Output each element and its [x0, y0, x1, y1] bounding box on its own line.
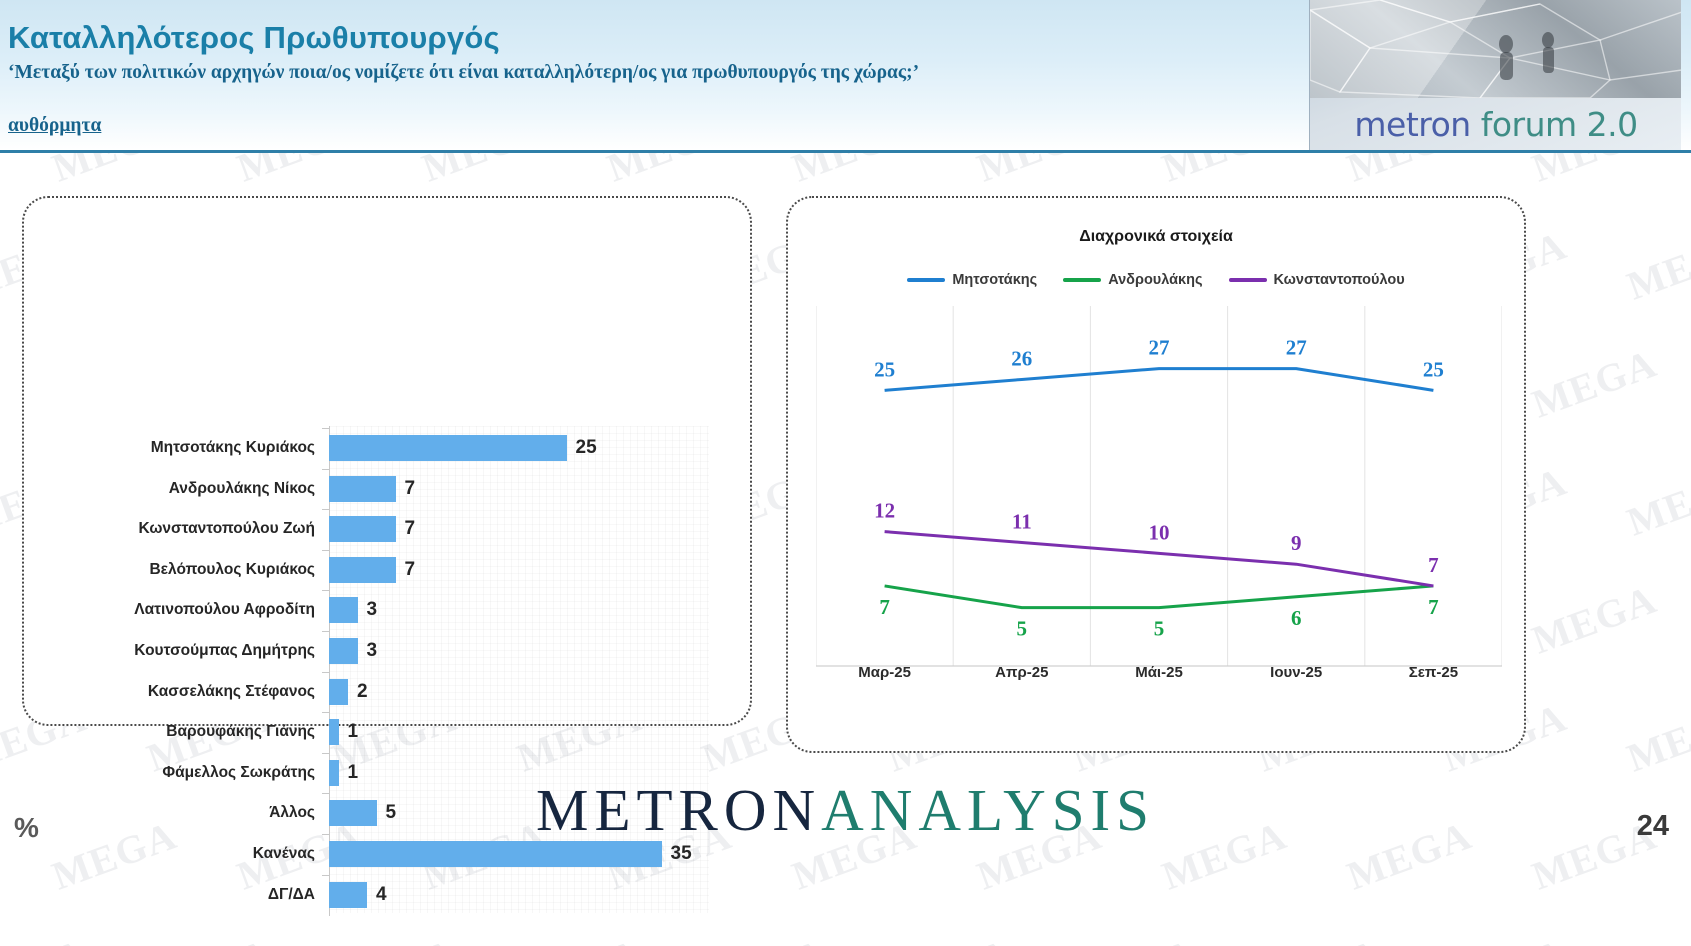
bar-row: Κωνσταντοπούλου Ζωή7 — [84, 509, 724, 549]
bar-category-label: Βαρουφάκης Γιάνης — [84, 723, 329, 741]
bar-track: 7 — [329, 469, 724, 509]
legend-item[interactable]: Μητσοτάκης — [907, 272, 1037, 288]
bar-axis-tick — [322, 753, 330, 754]
bar-axis-tick — [322, 550, 330, 551]
bar-category-label: ΔΓ/ΔΑ — [84, 886, 329, 904]
slide-header: Καταλληλότερος Πρωθυπουργός ‘Μεταξύ των … — [0, 0, 1691, 153]
bar-fill — [329, 476, 396, 502]
data-point-label: 27 — [1286, 336, 1307, 360]
bar-category-label: Βελόπουλος Κυριάκος — [84, 561, 329, 579]
watermark-text: MEGA — [1621, 929, 1691, 946]
bar-value-label: 4 — [376, 884, 387, 906]
data-point-label: 12 — [874, 499, 895, 523]
watermark-text: MEGA — [1621, 693, 1691, 781]
legend-item[interactable]: Κωνσταντοπούλου — [1229, 272, 1405, 288]
data-point-label: 7 — [879, 595, 890, 619]
data-point-label: 25 — [1423, 357, 1444, 381]
bar-category-label: Μητσοτάκης Κυριάκος — [84, 439, 329, 457]
bar-category-label: Ανδρουλάκης Νίκος — [84, 480, 329, 498]
bar-row: Λατινοπούλου Αφροδίτη3 — [84, 590, 724, 630]
bar-value-label: 3 — [367, 640, 378, 662]
logo-photo — [1310, 0, 1681, 98]
bar-fill — [329, 638, 358, 664]
data-point-label: 26 — [1011, 346, 1032, 370]
x-axis-tick-label: Απρ-25 — [953, 664, 1090, 681]
bar-fill — [329, 597, 358, 623]
bar-fill — [329, 882, 367, 908]
bar-row: Κασσελάκης Στέφανος2 — [84, 672, 724, 712]
bar-fill — [329, 557, 396, 583]
legend-color-swatch — [1229, 278, 1267, 282]
bar-axis-tick — [322, 469, 330, 470]
bar-value-label: 35 — [671, 843, 692, 865]
watermark-text: MEGA — [0, 929, 93, 946]
x-axis-tick-label: Ιουν-25 — [1228, 664, 1365, 681]
bar-track: 1 — [329, 712, 724, 752]
bar-value-label: 3 — [367, 599, 378, 621]
bar-track: 2 — [329, 672, 724, 712]
watermark-text: MEGA — [1066, 929, 1203, 946]
bar-value-label: 25 — [576, 437, 597, 459]
bar-axis-tick — [322, 875, 330, 876]
data-point-label: 9 — [1291, 531, 1302, 555]
legend-label: Κωνσταντοπούλου — [1274, 272, 1405, 288]
watermark-text: MEGA — [141, 929, 278, 946]
logo-geometry-icon — [1310, 0, 1681, 98]
watermark-text: MEGA — [696, 929, 833, 946]
bar-track: 3 — [329, 631, 724, 671]
bar-axis-tick — [322, 712, 330, 713]
metron-analysis-logo: METRONANALYSIS — [0, 776, 1691, 845]
x-axis-tick-label: Σεπ-25 — [1365, 664, 1502, 681]
data-point-label: 6 — [1291, 606, 1302, 630]
bar-row: ΔΓ/ΔΑ4 — [84, 875, 724, 915]
bar-track: 3 — [329, 590, 724, 630]
logo-wordmark: metron forum 2.0 — [1310, 105, 1681, 144]
watermark-text: MEGA — [326, 929, 463, 946]
line-chart-panel: Διαχρονικά στοιχεία ΜητσοτάκηςΑνδρουλάκη… — [786, 196, 1526, 753]
data-point-label: 10 — [1149, 520, 1170, 544]
bar-axis-tick — [322, 428, 330, 429]
line-series — [885, 586, 1434, 608]
logo-analysis-text: ANALYSIS — [821, 777, 1155, 843]
bar-fill — [329, 516, 396, 542]
bar-axis-tick — [322, 672, 330, 673]
logo-text-forum: forum 2.0 — [1481, 105, 1638, 144]
line-chart-x-axis: Μαρ-25Απρ-25Μάι-25Ιουν-25Σεπ-25 — [816, 664, 1502, 681]
watermark-text: MEGA — [1526, 575, 1663, 663]
bar-fill — [329, 679, 348, 705]
line-chart-title: Διαχρονικά στοιχεία — [788, 228, 1524, 246]
x-axis-tick-label: Μαρ-25 — [816, 664, 953, 681]
data-point-label: 27 — [1149, 336, 1170, 360]
x-axis-tick-label: Μάι-25 — [1090, 664, 1227, 681]
legend-label: Ανδρουλάκης — [1108, 272, 1202, 288]
bar-track: 4 — [329, 875, 724, 915]
bar-category-label: Λατινοπούλου Αφροδίτη — [84, 601, 329, 619]
bar-chart: Μητσοτάκης Κυριάκος25Ανδρουλάκης Νίκος7Κ… — [24, 198, 750, 724]
bar-fill — [329, 719, 339, 745]
brand-logo: metron forum 2.0 — [1309, 0, 1681, 150]
data-point-label: 11 — [1012, 509, 1032, 533]
line-chart-svg: 25262727257556712111097 — [816, 306, 1502, 706]
bar-axis-tick — [322, 590, 330, 591]
bar-category-label: Κουτσούμπας Δημήτρης — [84, 642, 329, 660]
logo-metron-text: METRON — [536, 777, 821, 843]
line-chart-legend: ΜητσοτάκηςΑνδρουλάκηςΚωνσταντοπούλου — [788, 272, 1524, 288]
data-point-label: 7 — [1428, 595, 1439, 619]
legend-item[interactable]: Ανδρουλάκης — [1063, 272, 1202, 288]
watermark-text: MEGA — [511, 929, 648, 946]
line-series — [885, 369, 1434, 391]
watermark-text: MEGA — [1526, 339, 1663, 427]
data-point-label: 5 — [1017, 617, 1028, 641]
legend-color-swatch — [1063, 278, 1101, 282]
watermark-text: MEGA — [1251, 929, 1388, 946]
bar-axis-tick — [322, 631, 330, 632]
percent-label: % — [14, 812, 39, 844]
data-point-label: 5 — [1154, 617, 1165, 641]
watermark-text: MEGA — [1621, 457, 1691, 545]
bar-category-label: Κασσελάκης Στέφανος — [84, 683, 329, 701]
bar-chart-panel: Μητσοτάκης Κυριάκος25Ανδρουλάκης Νίκος7Κ… — [22, 196, 752, 726]
bar-fill — [329, 435, 567, 461]
bar-row: Βελόπουλος Κυριάκος7 — [84, 550, 724, 590]
question-note: αυθόρμητα — [8, 115, 101, 137]
bar-row: Κουτσούμπας Δημήτρης3 — [84, 631, 724, 671]
bar-axis-tick — [322, 509, 330, 510]
bar-row: Βαρουφάκης Γιάνης1 — [84, 712, 724, 752]
bar-value-label: 7 — [405, 478, 416, 500]
data-point-label: 7 — [1428, 553, 1439, 577]
page-number: 24 — [1637, 810, 1669, 843]
bar-value-label: 1 — [348, 721, 359, 743]
page-title: Καταλληλότερος Πρωθυπουργός — [8, 20, 500, 56]
bar-row: Μητσοτάκης Κυριάκος25 — [84, 428, 724, 468]
bar-track: 7 — [329, 550, 724, 590]
legend-color-swatch — [907, 278, 945, 282]
bar-value-label: 2 — [357, 681, 368, 703]
bar-value-label: 7 — [405, 559, 416, 581]
watermark-text: MEGA — [1436, 929, 1573, 946]
bar-category-label: Κωνσταντοπούλου Ζωή — [84, 520, 329, 538]
watermark-text: MEGA — [1621, 221, 1691, 309]
survey-question: ‘Μεταξύ των πολιτικών αρχηγών ποια/ος νο… — [8, 59, 1168, 87]
logo-text-metron: metron — [1354, 105, 1480, 144]
bar-category-label: Κανένας — [84, 845, 329, 863]
bar-value-label: 7 — [405, 518, 416, 540]
watermark-text: MEGA — [881, 929, 1018, 946]
line-chart-plot: 25262727257556712111097 — [816, 306, 1502, 706]
bar-track: 7 — [329, 509, 724, 549]
bar-row: Ανδρουλάκης Νίκος7 — [84, 469, 724, 509]
bar-track: 25 — [329, 428, 724, 468]
data-point-label: 25 — [874, 357, 895, 381]
legend-label: Μητσοτάκης — [952, 272, 1037, 288]
